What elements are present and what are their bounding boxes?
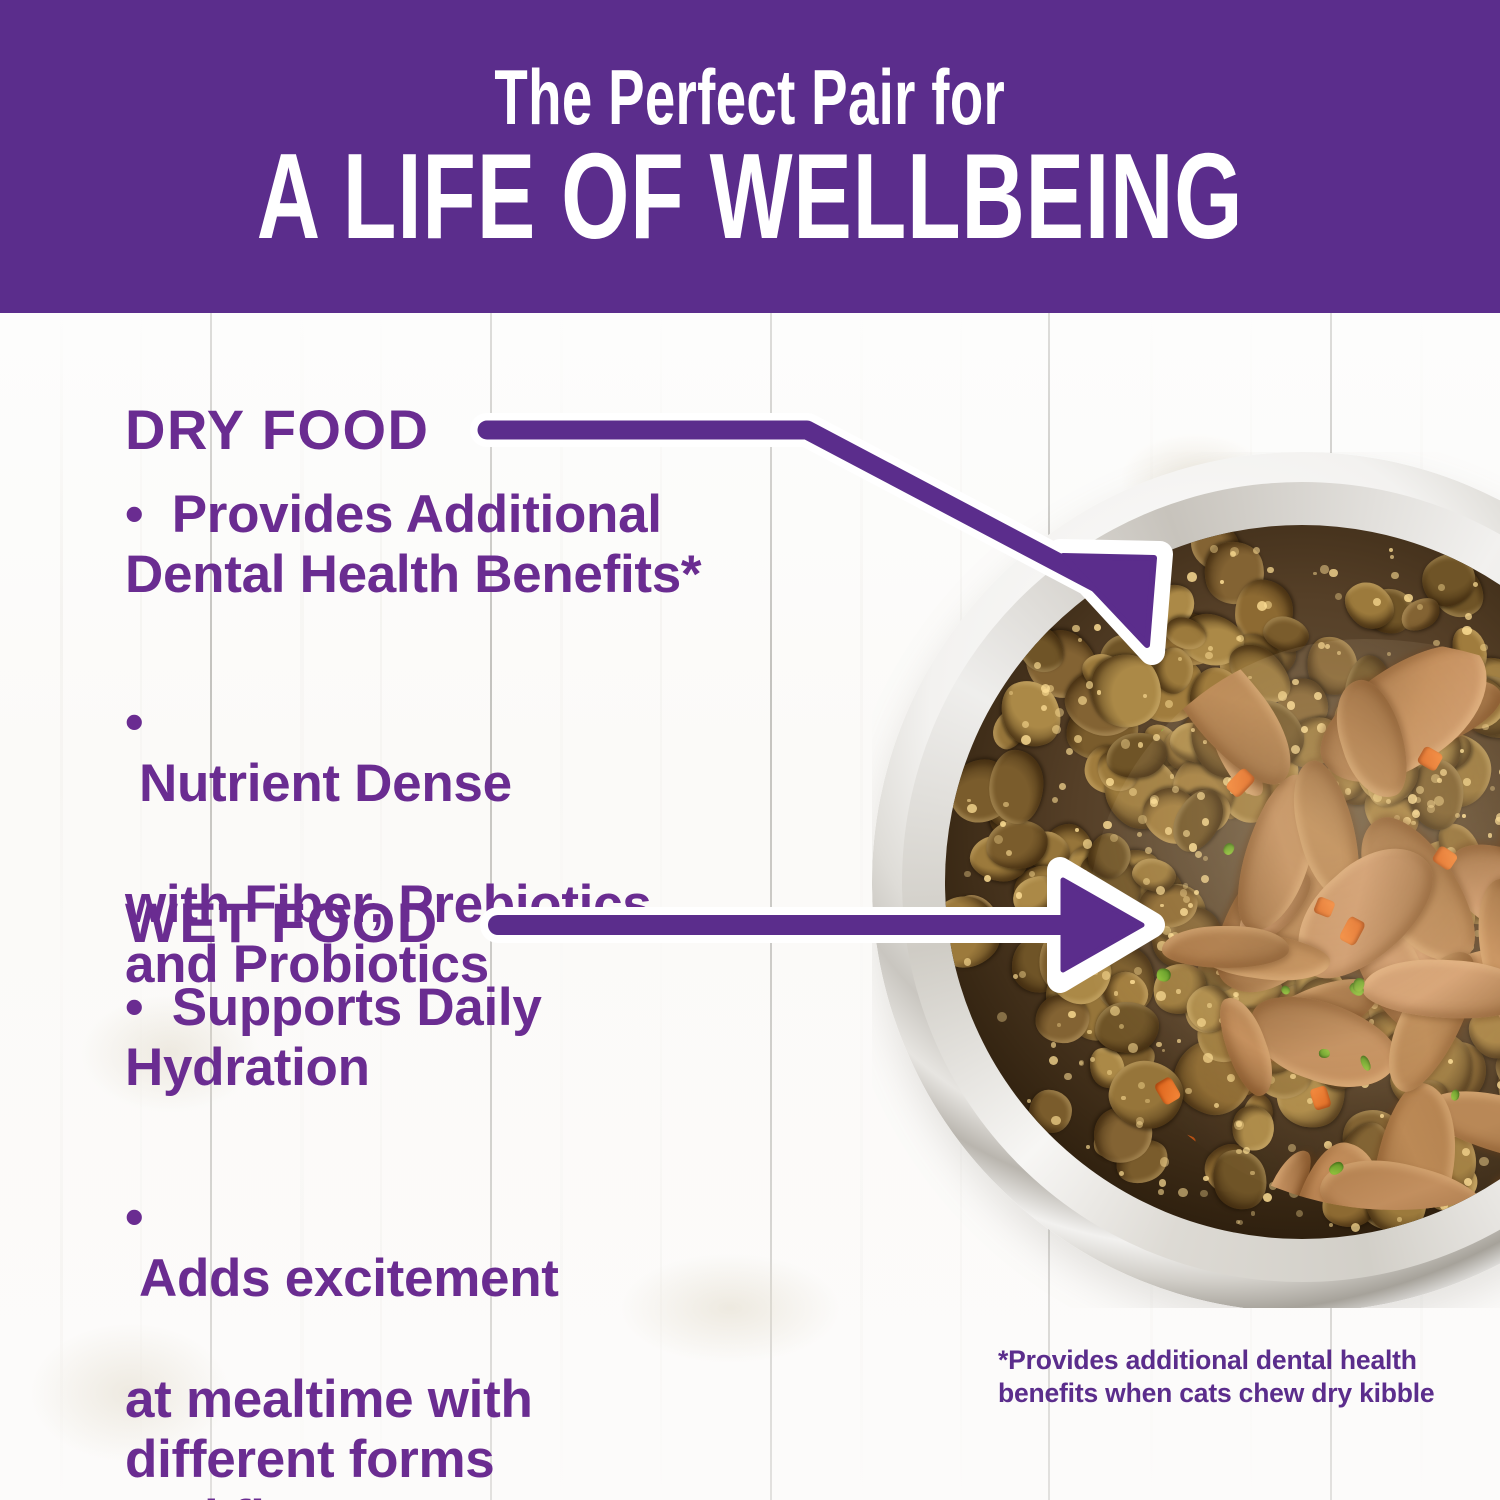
infographic-stage: The Perfect Pair for A LIFE OF WELLBEING	[0, 0, 1500, 1500]
bullet-text-lead: Supports Daily	[158, 978, 542, 1037]
footnote-line-2: benefits when cats chew dry kibble	[998, 1377, 1468, 1410]
kibble-speckle	[1391, 572, 1398, 579]
kibble-piece	[1029, 1089, 1073, 1133]
kibble-speckle	[1389, 548, 1394, 553]
kibble-speckle	[1000, 821, 1006, 827]
kibble-speckle	[1068, 1011, 1076, 1019]
kibble-speckle	[1335, 593, 1342, 600]
bullet-marker: •	[125, 693, 143, 752]
kibble-speckle	[1055, 978, 1062, 985]
bullet-text-rest: Dental Health Benefits*	[125, 545, 701, 604]
kibble-speckle	[1094, 624, 1101, 631]
kibble-speckle	[1078, 696, 1088, 706]
kibble-speckle	[982, 931, 989, 938]
kibble-speckle	[1165, 700, 1173, 708]
wet-food-chunk	[1162, 926, 1289, 968]
kibble-speckle	[1019, 971, 1026, 978]
kibble-speckle	[1121, 739, 1131, 749]
kibble-speckle	[1438, 584, 1445, 591]
kibble-speckle	[964, 958, 971, 965]
cat-food-bowl	[872, 452, 1500, 1308]
header-title: A LIFE OF WELLBEING	[257, 140, 1243, 252]
section-heading-dry-food: DRY FOOD	[125, 397, 429, 462]
pea-piece	[1279, 984, 1291, 996]
pea-piece	[1156, 967, 1172, 982]
kibble-speckle	[1072, 625, 1079, 632]
kibble-speckle	[1021, 735, 1031, 745]
kibble-speckle	[1086, 1145, 1090, 1149]
pea-piece	[1222, 841, 1237, 856]
kibble-speckle	[1052, 725, 1061, 734]
kibble-speckle	[1404, 594, 1413, 603]
kibble-speckle	[1066, 748, 1073, 755]
kibble-speckle	[1397, 1217, 1402, 1222]
kibble-speckle	[1251, 1211, 1256, 1216]
kibble-speckle	[984, 875, 991, 882]
kibble-speckle	[1086, 681, 1093, 688]
pea-piece	[1319, 1049, 1330, 1058]
kibble-speckle	[1057, 1023, 1061, 1027]
bullet-text-lead: Adds excitement	[125, 1249, 559, 1308]
kibble-speckle	[1050, 875, 1055, 880]
kibble-speckle	[1480, 644, 1488, 652]
kibble-speckle	[967, 804, 976, 813]
kibble-speckle	[1210, 545, 1218, 553]
kibble-speckle	[1041, 705, 1047, 711]
kibble-speckle	[1064, 1073, 1071, 1080]
kibble-speckle	[1320, 565, 1328, 573]
kibble-speckle	[1329, 569, 1337, 577]
kibble-speckle	[1078, 638, 1082, 642]
bullet-dry-1: • Provides Additional Dental Health Bene…	[125, 485, 825, 606]
header-band: The Perfect Pair for A LIFE OF WELLBEING	[0, 0, 1500, 313]
kibble-speckle	[1329, 1223, 1333, 1227]
kibble-speckle	[1029, 871, 1035, 877]
kibble-speckle	[1390, 555, 1395, 560]
kibble-speckle	[1159, 1179, 1166, 1186]
kibble-speckle	[1106, 778, 1114, 786]
footnote: *Provides additional dental health benef…	[998, 1344, 1468, 1410]
bullet-text-rest: at mealtime with different forms and fla…	[125, 1370, 533, 1500]
bullet-marker: •	[125, 1188, 143, 1247]
kibble-speckle	[1462, 626, 1471, 635]
kibble-speckle	[1107, 1070, 1111, 1074]
kibble-speckle	[1203, 1176, 1209, 1182]
kibble-speckle	[1160, 1157, 1170, 1167]
kibble-speckle	[1267, 567, 1273, 573]
kibble-speckle	[1138, 742, 1144, 748]
kibble-speckle	[997, 1012, 1007, 1022]
carrot-piece	[1309, 1085, 1332, 1111]
kibble-speckle	[1009, 691, 1013, 695]
kibble-speckle	[1075, 828, 1079, 832]
kibble-speckle	[1047, 685, 1054, 692]
bullet-marker: •	[125, 978, 143, 1037]
bowl-body	[872, 452, 1500, 1308]
section-heading-wet-food: WET FOOD	[125, 890, 439, 955]
kibble-speckle	[1059, 783, 1066, 790]
kibble-speckle	[1052, 797, 1058, 803]
kibble-speckle	[1200, 1190, 1208, 1198]
bullet-wet-1: • Supports Daily Hydration	[125, 978, 825, 1099]
bullet-text-lead: Nutrient Dense	[125, 754, 512, 813]
kibble-speckle	[964, 871, 970, 877]
kibble-speckle	[1055, 708, 1064, 717]
kibble-speckle	[1187, 572, 1197, 582]
bullet-text-lead: Provides Additional	[158, 485, 662, 544]
kibble-speckle	[1087, 1030, 1091, 1034]
kibble-speckle	[967, 799, 971, 803]
bullet-wet-2: • Adds excitement at mealtime with diffe…	[125, 1128, 825, 1500]
header-subtitle: The Perfect Pair for	[495, 60, 1006, 134]
pea-piece	[1169, 688, 1181, 699]
footnote-line-1: *Provides additional dental health	[998, 1344, 1468, 1377]
kibble-speckle	[1121, 1096, 1126, 1101]
kibble-speckle	[1465, 613, 1472, 620]
kibble-speckle	[1051, 1116, 1060, 1125]
kibble-speckle	[1121, 591, 1130, 600]
carrot-piece	[1154, 1076, 1183, 1106]
kibble-speckle	[1022, 721, 1029, 728]
kibble-speckle	[1178, 1188, 1188, 1198]
kibble-speckle	[1351, 1223, 1360, 1232]
kibble-speckle	[1119, 1171, 1124, 1176]
bullet-marker: •	[125, 485, 143, 544]
benefits-column: DRY FOOD • Provides Additional Dental He…	[0, 313, 880, 1500]
kibble-speckle	[1141, 622, 1148, 629]
kibble-speckle	[1313, 572, 1317, 576]
kibble-speckle	[1003, 802, 1008, 807]
kibble-speckle	[1238, 1220, 1243, 1225]
kibble-speckle	[1230, 551, 1236, 557]
kibble-speckle	[1049, 1056, 1058, 1065]
bullet-text-rest: Hydration	[125, 1038, 370, 1097]
kibble-speckle	[1296, 1210, 1303, 1217]
kibble-speckle	[1051, 1042, 1056, 1047]
kibble-speckle	[1078, 911, 1084, 917]
kibble-speckle	[1158, 1189, 1163, 1194]
